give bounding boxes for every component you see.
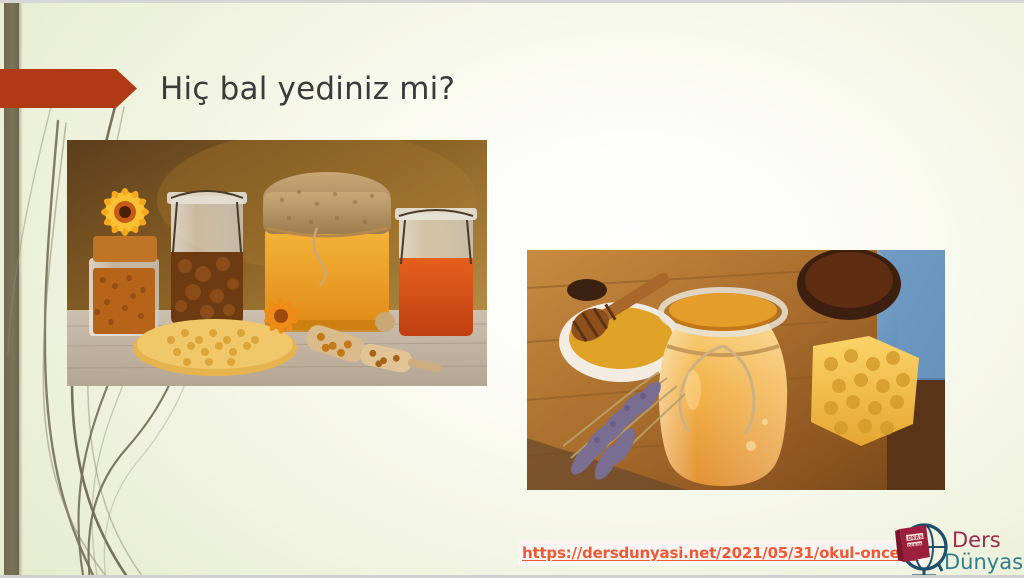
logo-word-ders: Ders (952, 528, 1001, 552)
honey-jar-dipper-photo (527, 250, 945, 490)
source-link[interactable]: https://dersdunyasi.net/2021/05/31/okul-… (522, 544, 919, 562)
page-title: Hiç bal yediniz mi? (160, 69, 455, 109)
source-link-container[interactable]: https://dersdunyasi.net/2021/05/31/okul-… (518, 540, 925, 566)
logo-word-dunyasi: Dünyası (944, 550, 1022, 574)
book-icon: DERS DÜNYASI (895, 525, 930, 562)
ders-dunyasi-logo: DERS DÜNYASI Ders Dünyası (886, 521, 1022, 578)
presentation-slide: Hiç bal yediniz mi? (0, 0, 1024, 578)
honey-jars-photo (67, 140, 487, 386)
red-arrow-banner (0, 69, 137, 108)
